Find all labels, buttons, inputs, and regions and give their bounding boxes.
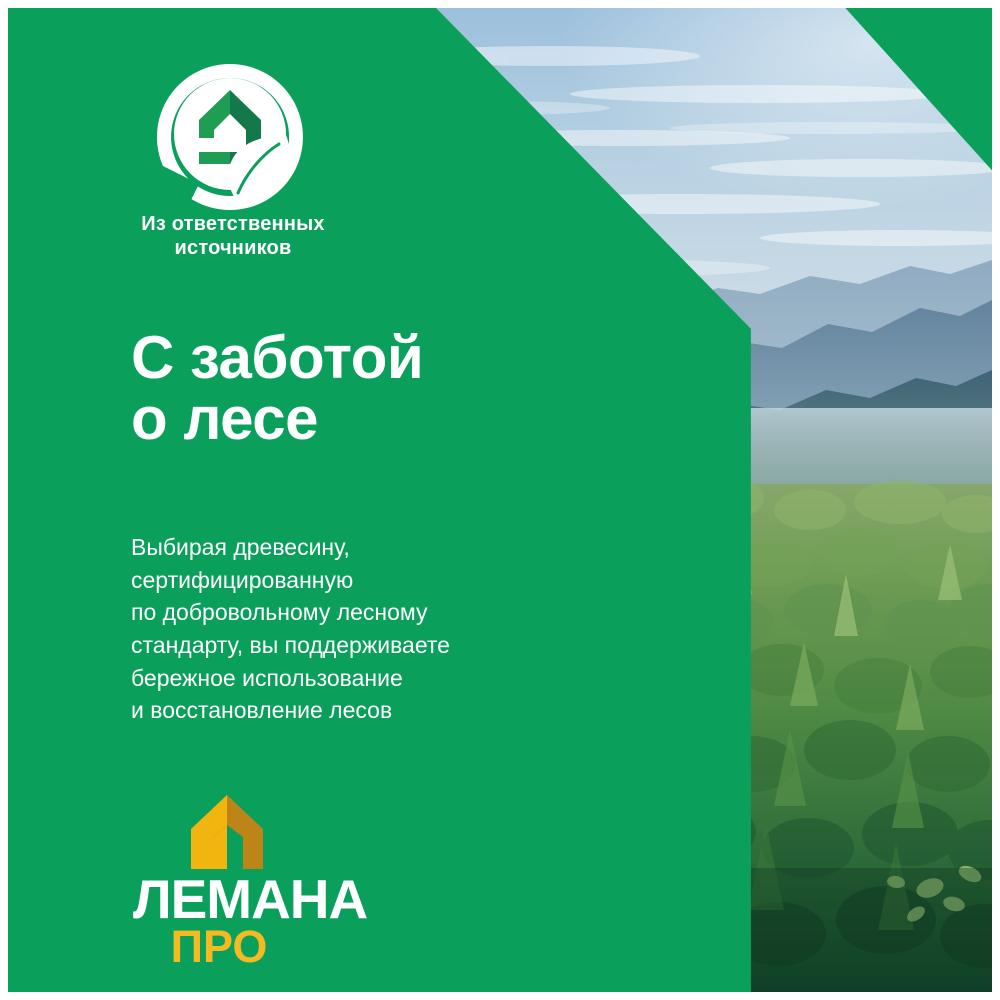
- body-line1: Выбирая древесину,: [131, 531, 581, 564]
- badge-caption-line1: Из ответственных: [141, 213, 324, 235]
- body-paragraph: Выбирая древесину, сертифицированную по …: [131, 531, 581, 727]
- brand-lockup: ЛЕМАНА ПРО: [133, 793, 367, 969]
- badge-caption-line2: источников: [175, 237, 292, 259]
- page-title: С заботой о лесе: [131, 327, 551, 449]
- body-line2: сертифицированную: [131, 564, 581, 597]
- body-line4: стандарту, вы поддерживаете: [131, 629, 581, 662]
- brand-subname: ПРО: [133, 926, 305, 969]
- brand-name: ЛЕМАНА: [133, 873, 367, 925]
- body-line3: по добровольному лесному: [131, 596, 581, 629]
- lemana-house-icon: [181, 793, 273, 871]
- body-line6: и восстановление лесов: [131, 694, 581, 727]
- body-line5: бережное использование: [131, 662, 581, 695]
- poster-canvas: Из ответственных источников С заботой о …: [0, 0, 1000, 1000]
- headline-line1: С заботой: [131, 327, 551, 388]
- house-leaf-circle-icon: [155, 62, 305, 212]
- headline-line2: о лесе: [131, 388, 551, 449]
- badge-caption: Из ответственных источников: [128, 212, 338, 260]
